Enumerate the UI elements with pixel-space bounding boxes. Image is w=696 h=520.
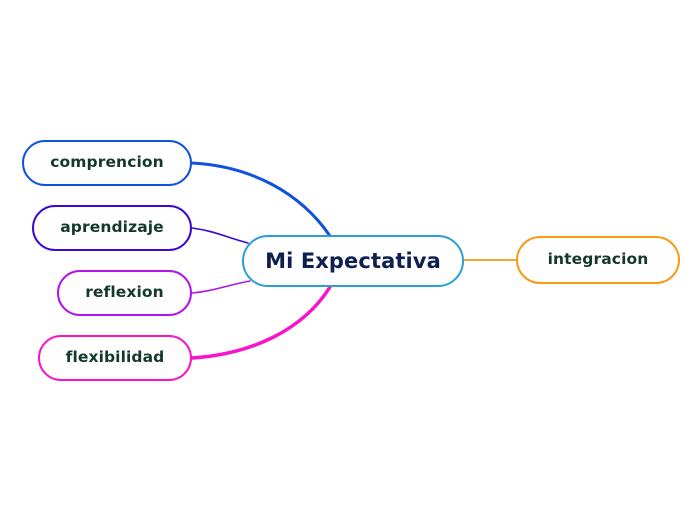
mindmap-node-reflexion-label: reflexion bbox=[85, 285, 164, 301]
edge-central-to-flexibilidad bbox=[192, 287, 330, 358]
mindmap-node-integracion-label: integracion bbox=[548, 252, 649, 268]
mindmap-canvas: Mi Expectativa comprencion aprendizaje r… bbox=[0, 0, 696, 520]
mindmap-node-comprencion-label: comprencion bbox=[50, 155, 164, 171]
edge-central-to-aprendizaje bbox=[192, 228, 248, 243]
mindmap-node-flexibilidad[interactable]: flexibilidad bbox=[38, 335, 192, 381]
mindmap-node-central-label: Mi Expectativa bbox=[265, 251, 441, 272]
mindmap-node-aprendizaje[interactable]: aprendizaje bbox=[32, 205, 192, 251]
mindmap-node-central[interactable]: Mi Expectativa bbox=[242, 235, 464, 287]
mindmap-node-flexibilidad-label: flexibilidad bbox=[66, 350, 165, 366]
mindmap-node-comprencion[interactable]: comprencion bbox=[22, 140, 192, 186]
mindmap-node-integracion[interactable]: integracion bbox=[516, 236, 680, 284]
mindmap-node-reflexion[interactable]: reflexion bbox=[57, 270, 192, 316]
mindmap-node-aprendizaje-label: aprendizaje bbox=[60, 220, 164, 236]
edge-central-to-comprencion bbox=[192, 163, 330, 236]
edge-central-to-reflexion bbox=[192, 281, 250, 293]
